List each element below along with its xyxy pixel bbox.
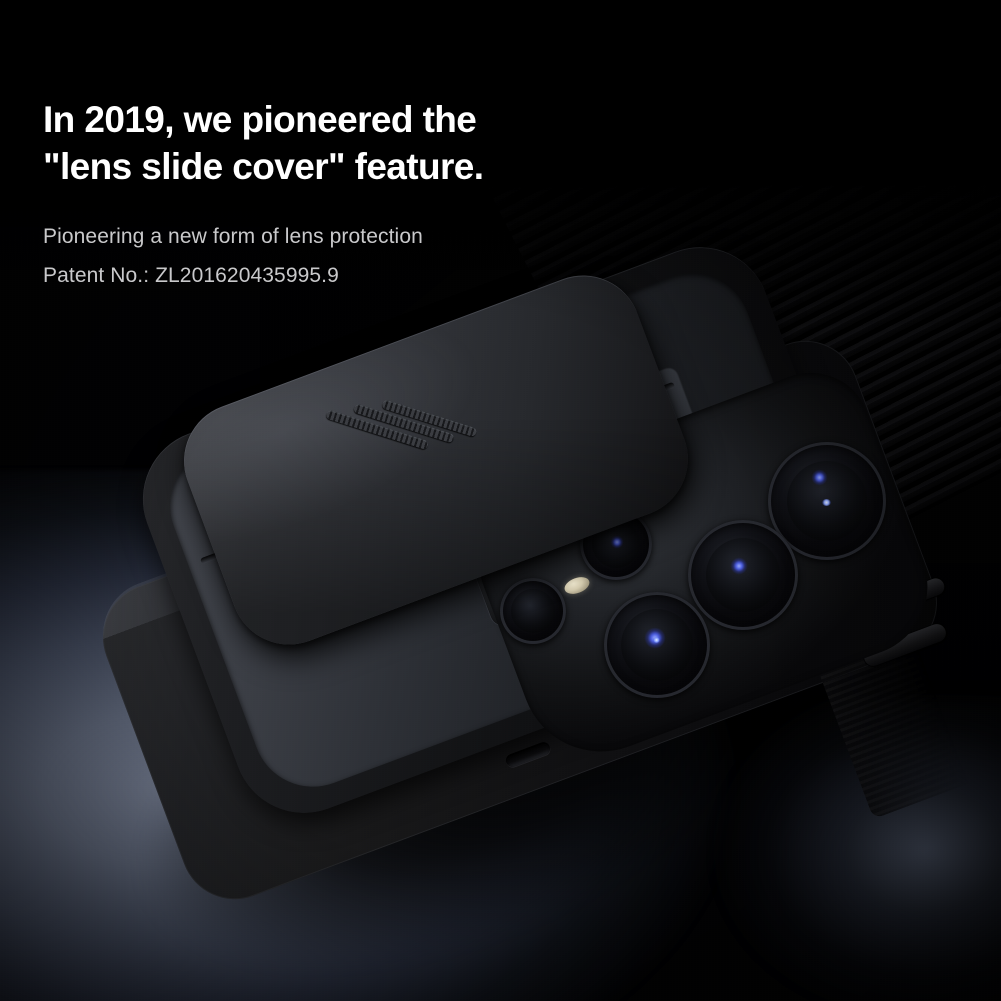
headline-line-1: In 2019, we pioneered the xyxy=(43,96,663,143)
headline-line-2: "lens slide cover" feature. xyxy=(43,143,663,190)
product-image-canvas: In 2019, we pioneered the "lens slide co… xyxy=(0,0,1001,1001)
lens-sensor-tiny xyxy=(500,578,566,644)
lens-main-bottom xyxy=(604,592,710,698)
patent-number-text: Patent No.: ZL201620435995.9 xyxy=(43,261,663,291)
lens-wide-middle xyxy=(688,520,798,630)
marketing-copy-block: In 2019, we pioneered the "lens slide co… xyxy=(43,96,663,291)
subtitle-text: Pioneering a new form of lens protection xyxy=(43,222,663,252)
